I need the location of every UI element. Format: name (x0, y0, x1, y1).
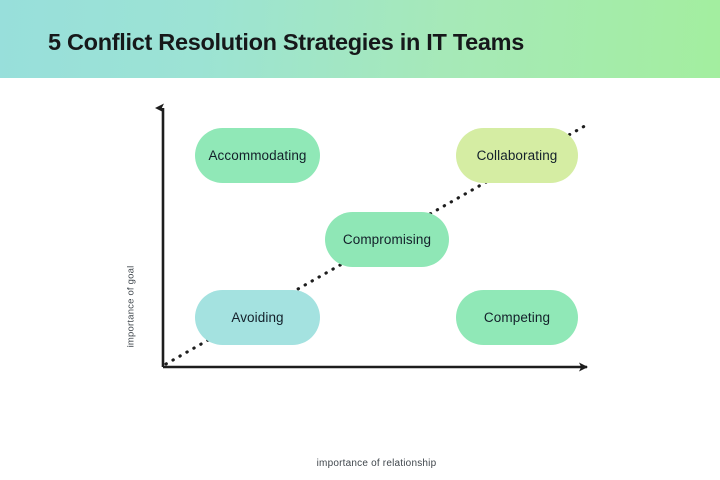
strategy-pill-accommodating[interactable]: Accommodating (195, 128, 320, 183)
strategy-pill-label: Accommodating (208, 148, 306, 163)
strategy-pill-label: Collaborating (477, 148, 558, 163)
header-band: 5 Conflict Resolution Strategies in IT T… (0, 0, 720, 78)
chart-axes-svg (0, 78, 720, 480)
page-title: 5 Conflict Resolution Strategies in IT T… (48, 29, 524, 56)
strategy-pill-competing[interactable]: Competing (456, 290, 578, 345)
strategy-pill-avoiding[interactable]: Avoiding (195, 290, 320, 345)
slide-canvas: 5 Conflict Resolution Strategies in IT T… (0, 0, 720, 480)
strategy-pill-label: Avoiding (231, 310, 283, 325)
y-axis-label-text: importance of goal (126, 265, 137, 347)
x-axis-label: importance of relationship (163, 458, 590, 469)
strategy-pill-collaborating[interactable]: Collaborating (456, 128, 578, 183)
strategy-pill-compromising[interactable]: Compromising (325, 212, 449, 267)
y-axis-label: importance of goal (123, 246, 139, 366)
strategy-pill-label: Compromising (343, 232, 431, 247)
chart-area: Accommodating Collaborating Compromising… (0, 78, 720, 480)
strategy-pill-label: Competing (484, 310, 550, 325)
